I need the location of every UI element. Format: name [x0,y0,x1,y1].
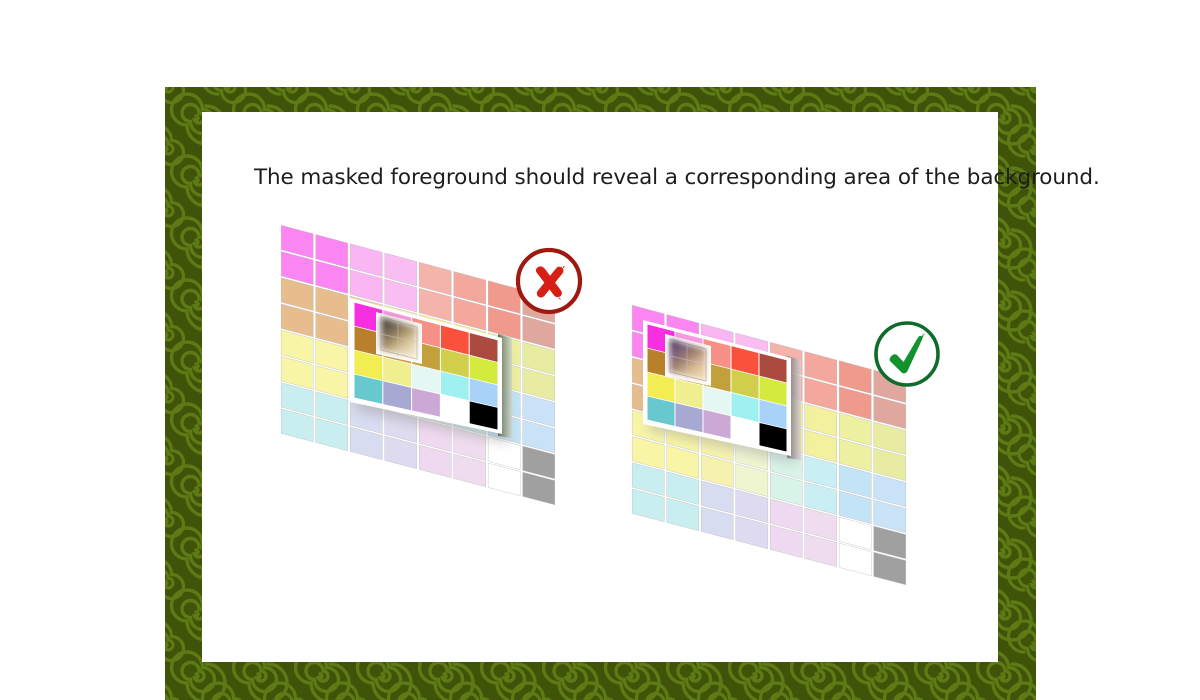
correct-badge [871,318,943,390]
slide-canvas: The masked foreground should reveal a co… [0,0,1200,700]
slide-content-area: The masked foreground should reveal a co… [202,112,998,662]
figure-correct-example [627,296,947,596]
check-icon [871,318,943,390]
slide-caption: The masked foreground should reveal a co… [254,164,974,192]
incorrect-badge [513,245,585,317]
cross-icon [513,245,585,317]
figure-incorrect-example [276,216,596,516]
